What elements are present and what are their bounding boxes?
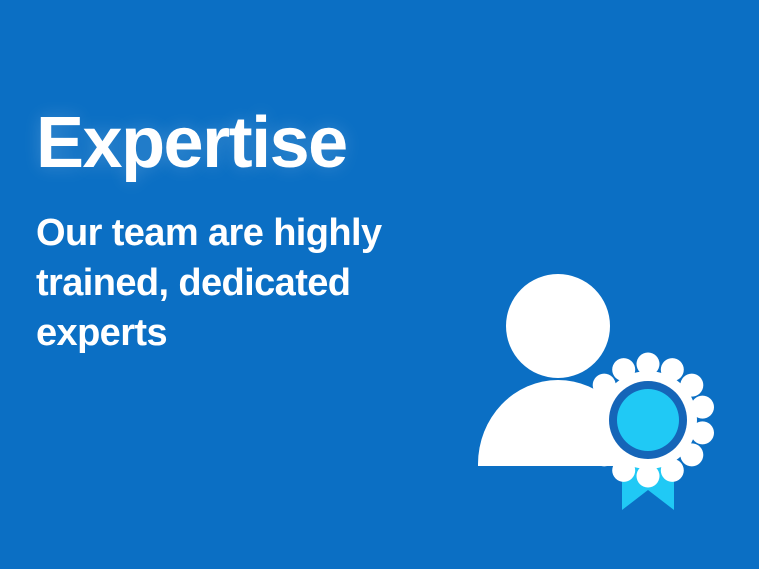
- expert-person-award-icon: [462, 262, 722, 522]
- person-head-shape: [506, 274, 610, 378]
- badge-center: [617, 389, 679, 451]
- expertise-slide: Expertise Our team are highly trained, d…: [0, 0, 759, 569]
- subtitle-text: Our team are highly trained, dedicated e…: [36, 208, 456, 358]
- text-block: Expertise Our team are highly trained, d…: [36, 104, 466, 358]
- page-title: Expertise: [36, 104, 466, 182]
